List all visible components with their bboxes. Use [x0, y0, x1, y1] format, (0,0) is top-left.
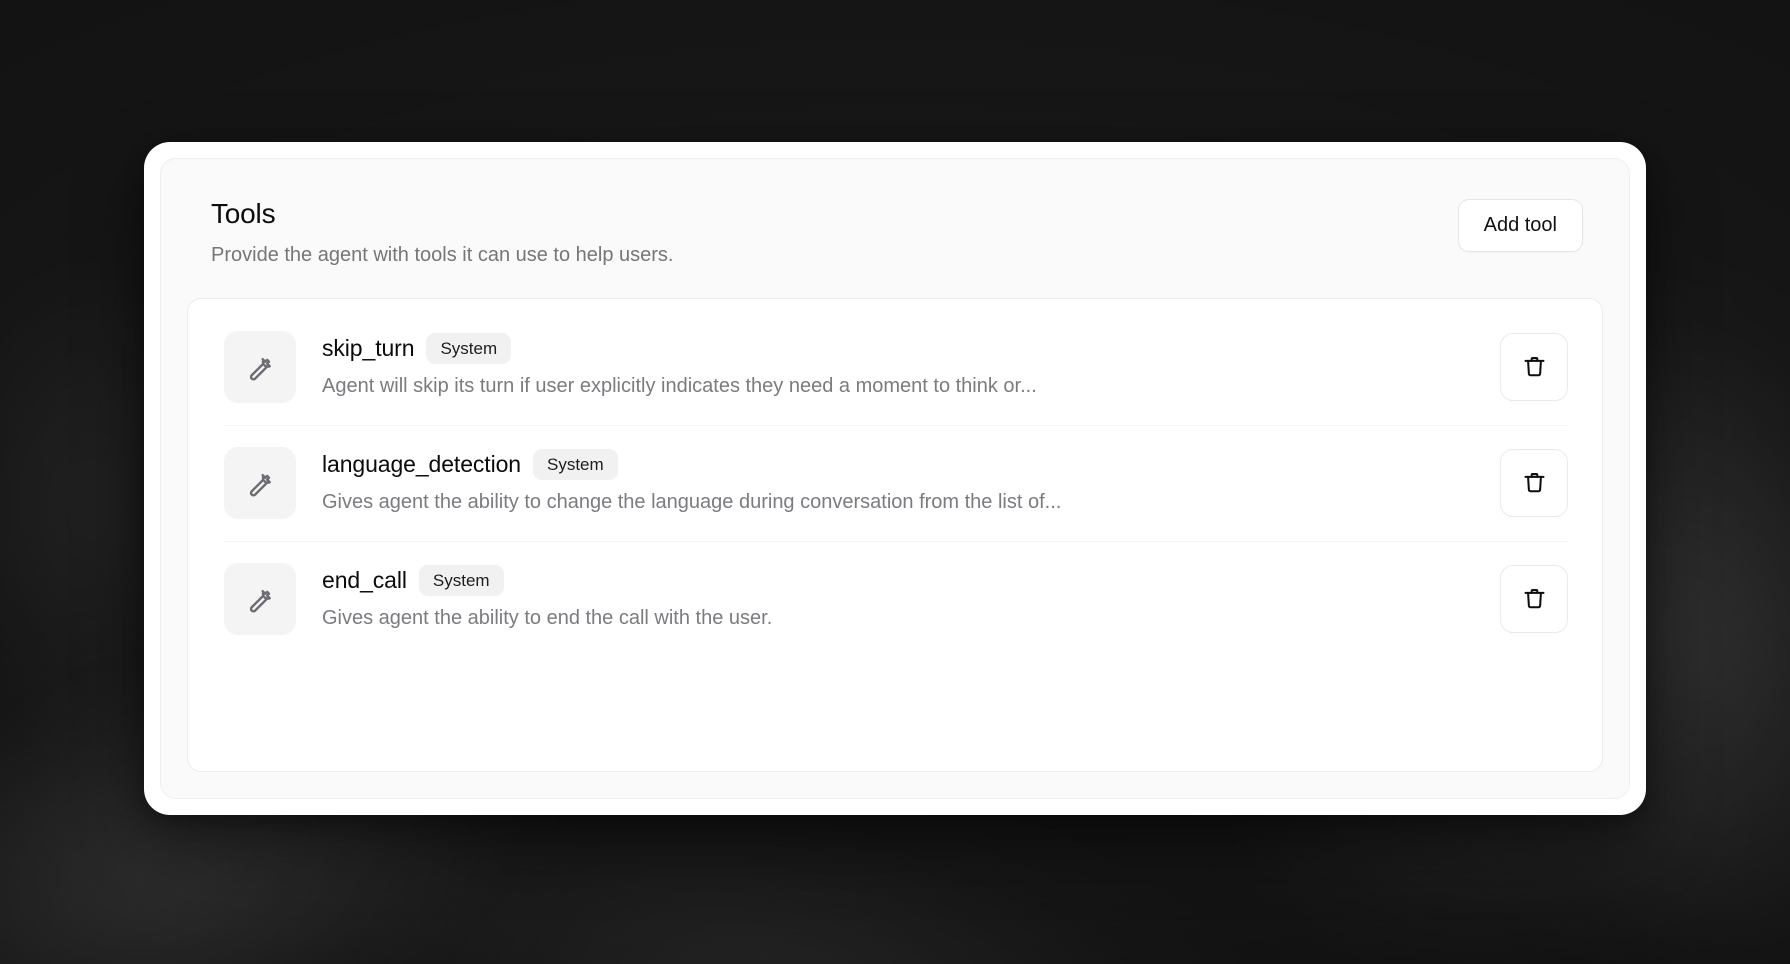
- header-text-group: Tools Provide the agent with tools it ca…: [211, 197, 674, 268]
- tool-description: Gives agent the ability to end the call …: [322, 605, 1480, 632]
- status-badge: System: [419, 565, 504, 597]
- tool-name: skip_turn: [322, 335, 414, 362]
- panel-header: Tools Provide the agent with tools it ca…: [187, 189, 1603, 268]
- page-title: Tools: [211, 197, 674, 231]
- tool-name: end_call: [322, 567, 407, 594]
- tool-title-line: skip_turn System: [322, 333, 1480, 365]
- tool-list-item[interactable]: end_call System Gives agent the ability …: [188, 541, 1602, 657]
- wrench-icon: [224, 331, 296, 403]
- tools-window-card: Tools Provide the agent with tools it ca…: [144, 142, 1646, 815]
- status-badge: System: [533, 449, 618, 481]
- page-subtitle: Provide the agent with tools it can use …: [211, 242, 674, 268]
- status-badge: System: [426, 333, 511, 365]
- wrench-icon: [224, 563, 296, 635]
- wrench-icon: [224, 447, 296, 519]
- delete-tool-button[interactable]: [1500, 449, 1568, 517]
- tool-title-line: language_detection System: [322, 449, 1480, 481]
- delete-tool-button[interactable]: [1500, 333, 1568, 401]
- add-tool-button[interactable]: Add tool: [1458, 199, 1583, 252]
- tool-body: end_call System Gives agent the ability …: [322, 565, 1480, 633]
- tools-panel: Tools Provide the agent with tools it ca…: [160, 158, 1630, 799]
- tools-list: skip_turn System Agent will skip its tur…: [187, 298, 1603, 772]
- tool-body: skip_turn System Agent will skip its tur…: [322, 333, 1480, 401]
- tool-title-line: end_call System: [322, 565, 1480, 597]
- tool-list-item[interactable]: language_detection System Gives agent th…: [188, 425, 1602, 541]
- tool-description: Agent will skip its turn if user explici…: [322, 373, 1480, 400]
- tool-list-item[interactable]: skip_turn System Agent will skip its tur…: [188, 309, 1602, 425]
- tool-name: language_detection: [322, 451, 521, 478]
- delete-tool-button[interactable]: [1500, 565, 1568, 633]
- tool-body: language_detection System Gives agent th…: [322, 449, 1480, 517]
- tool-description: Gives agent the ability to change the la…: [322, 489, 1480, 516]
